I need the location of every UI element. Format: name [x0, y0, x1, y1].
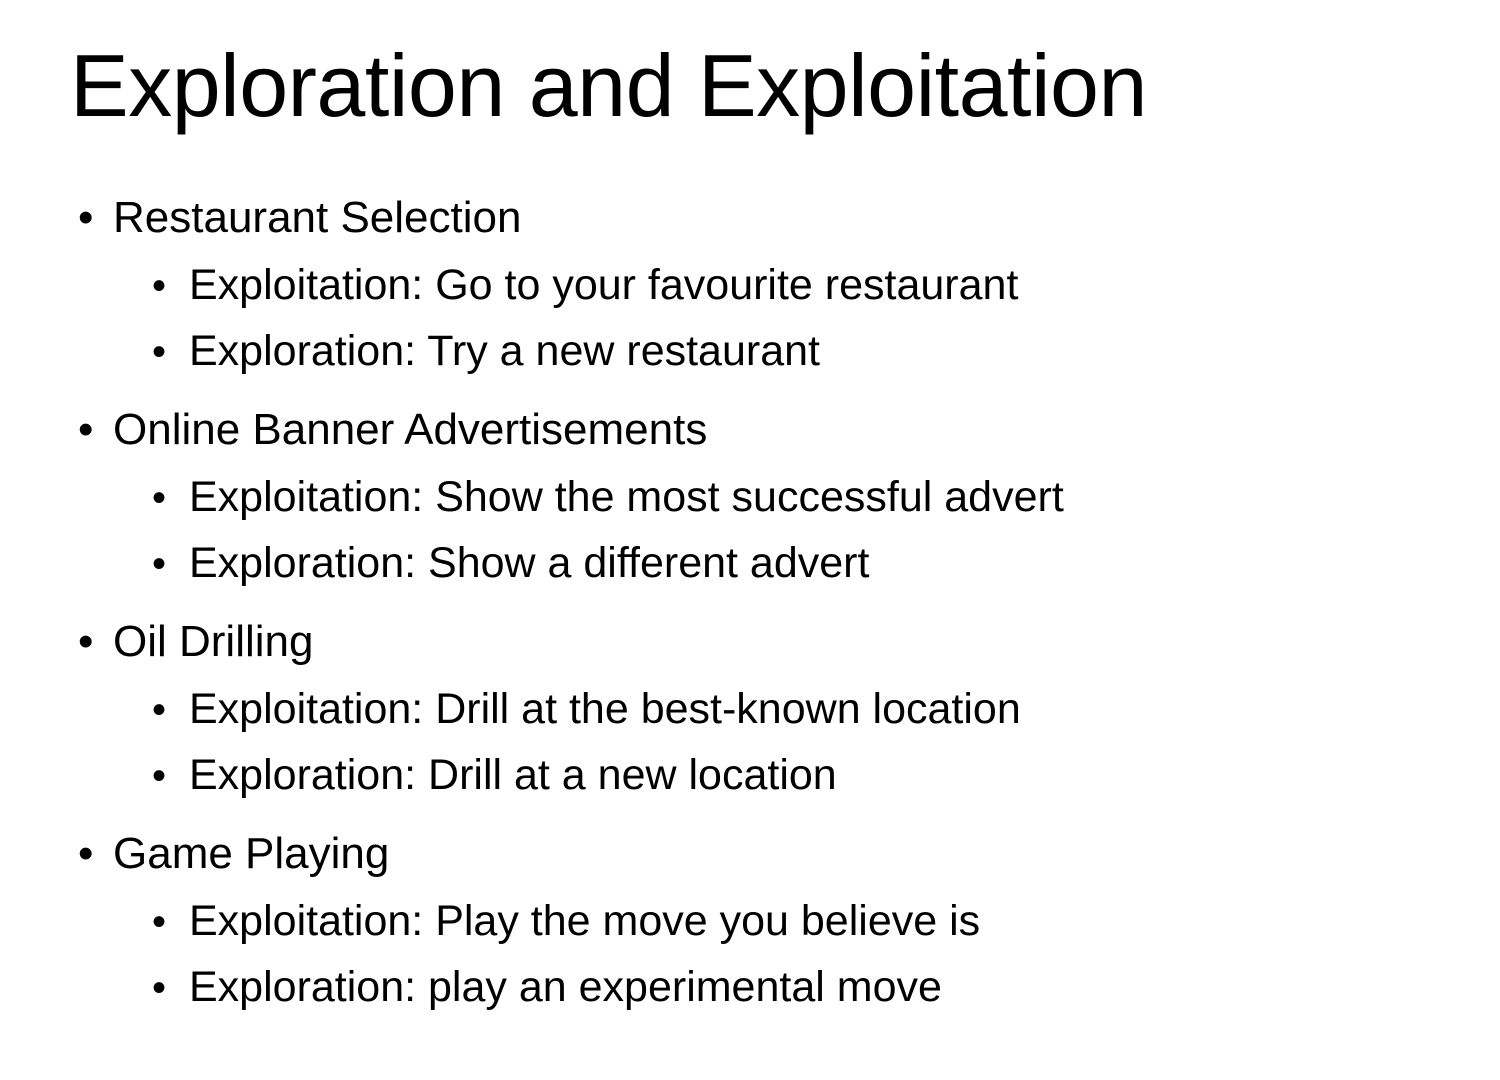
bullet-group: • Online Banner Advertisements • Exploit…	[60, 408, 1460, 608]
bullet-marker-icon: •	[152, 756, 189, 796]
bullet-item-level2: • Exploration: Drill at a new location	[60, 754, 1460, 820]
bullet-marker-icon: •	[152, 968, 189, 1008]
bullet-marker-icon: •	[152, 332, 189, 372]
bullet-group: • Game Playing • Exploitation: Play the …	[60, 832, 1460, 1032]
bullet-text: Oil Drilling	[113, 620, 313, 664]
bullet-text: Exploration: play an experimental move	[189, 966, 942, 1009]
bullet-marker-icon: •	[152, 478, 189, 518]
bullet-text: Game Playing	[113, 832, 389, 876]
bullet-text: Exploitation: Go to your favourite resta…	[189, 264, 1018, 307]
bullet-item-level2: • Exploitation: Go to your favourite res…	[60, 264, 1460, 330]
bullet-item-level2: • Exploitation: Play the move you believ…	[60, 900, 1460, 966]
slide-body: • Restaurant Selection • Exploitation: G…	[60, 196, 1460, 1032]
bullet-item-level2: • Exploration: Show a different advert	[60, 542, 1460, 608]
bullet-item-level1: • Oil Drilling	[60, 620, 1460, 688]
bullet-item-level2: • Exploration: play an experimental move	[60, 966, 1460, 1032]
bullet-text: Exploration: Show a different advert	[189, 542, 869, 585]
presentation-slide: Exploration and Exploitation • Restauran…	[0, 0, 1500, 1080]
bullet-item-level2: • Exploration: Try a new restaurant	[60, 330, 1460, 396]
bullet-marker-icon: •	[78, 620, 113, 664]
bullet-item-level1: • Game Playing	[60, 832, 1460, 900]
bullet-item-level1: • Online Banner Advertisements	[60, 408, 1460, 476]
bullet-item-level2: • Exploitation: Show the most successful…	[60, 476, 1460, 542]
bullet-item-level1: • Restaurant Selection	[60, 196, 1460, 264]
bullet-text: Restaurant Selection	[113, 196, 521, 240]
bullet-text: Exploitation: Show the most successful a…	[189, 476, 1064, 519]
bullet-item-level2: • Exploitation: Drill at the best-known …	[60, 688, 1460, 754]
bullet-text: Online Banner Advertisements	[113, 408, 707, 452]
bullet-group: • Restaurant Selection • Exploitation: G…	[60, 196, 1460, 396]
bullet-text: Exploitation: Drill at the best-known lo…	[189, 688, 1021, 731]
bullet-marker-icon: •	[152, 690, 189, 730]
bullet-text: Exploration: Try a new restaurant	[189, 330, 820, 373]
bullet-marker-icon: •	[78, 832, 113, 876]
bullet-text: Exploration: Drill at a new location	[189, 754, 837, 797]
bullet-group: • Oil Drilling • Exploitation: Drill at …	[60, 620, 1460, 820]
bullet-text: Exploitation: Play the move you believe …	[189, 900, 980, 943]
bullet-marker-icon: •	[78, 408, 113, 452]
slide-title: Exploration and Exploitation	[70, 38, 1430, 133]
bullet-marker-icon: •	[152, 902, 189, 942]
bullet-marker-icon: •	[78, 196, 113, 240]
bullet-marker-icon: •	[152, 266, 189, 306]
bullet-marker-icon: •	[152, 544, 189, 584]
